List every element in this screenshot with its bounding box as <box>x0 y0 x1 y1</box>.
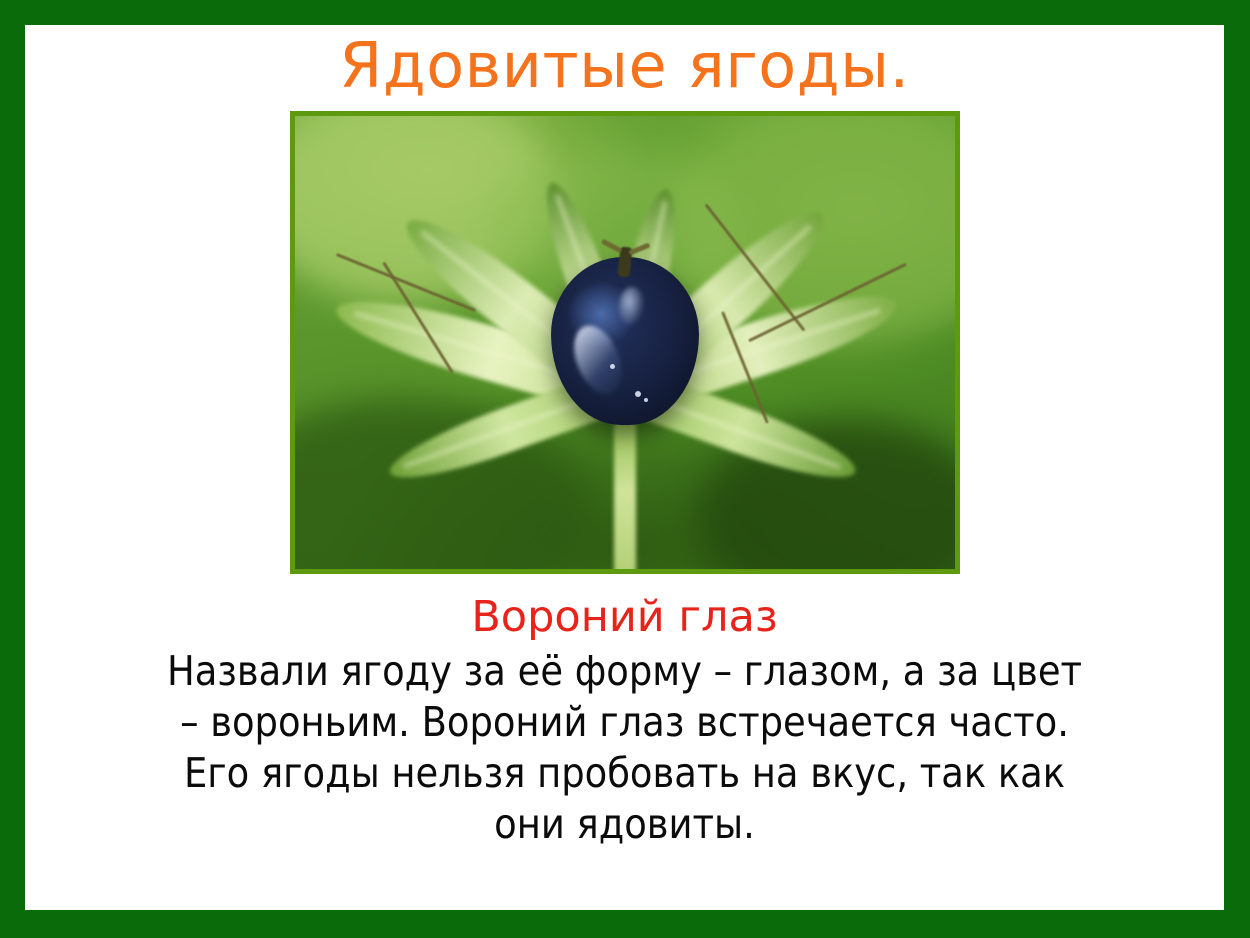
plant-stalk <box>614 415 636 569</box>
body-line: Его ягоды нельзя пробовать на вкус, так … <box>80 748 1170 799</box>
image-caption: Вороний глаз <box>471 592 777 642</box>
page-title: Ядовитые ягоды. <box>339 29 909 103</box>
berry-speck <box>610 364 615 369</box>
slide-content-area: Ядовитые ягоды. <box>25 25 1224 910</box>
body-line: они ядовиты. <box>80 799 1170 850</box>
berry-fruit <box>551 257 699 425</box>
berry-speck <box>635 391 641 397</box>
body-paragraph: Назвали ягоду за её форму – глазом, а за… <box>80 646 1170 850</box>
berry-speck <box>644 398 648 402</box>
berry-highlight <box>565 318 631 400</box>
berry-photo <box>295 116 955 569</box>
body-line: Назвали ягоду за её форму – глазом, а за… <box>80 646 1170 697</box>
berry-highlight <box>619 287 645 327</box>
slide-frame: Ядовитые ягоды. <box>0 0 1250 938</box>
body-line: – вороньим. Вороний глаз встречается час… <box>80 697 1170 748</box>
berry-stem <box>617 246 632 277</box>
berry-photo-frame <box>290 111 960 574</box>
